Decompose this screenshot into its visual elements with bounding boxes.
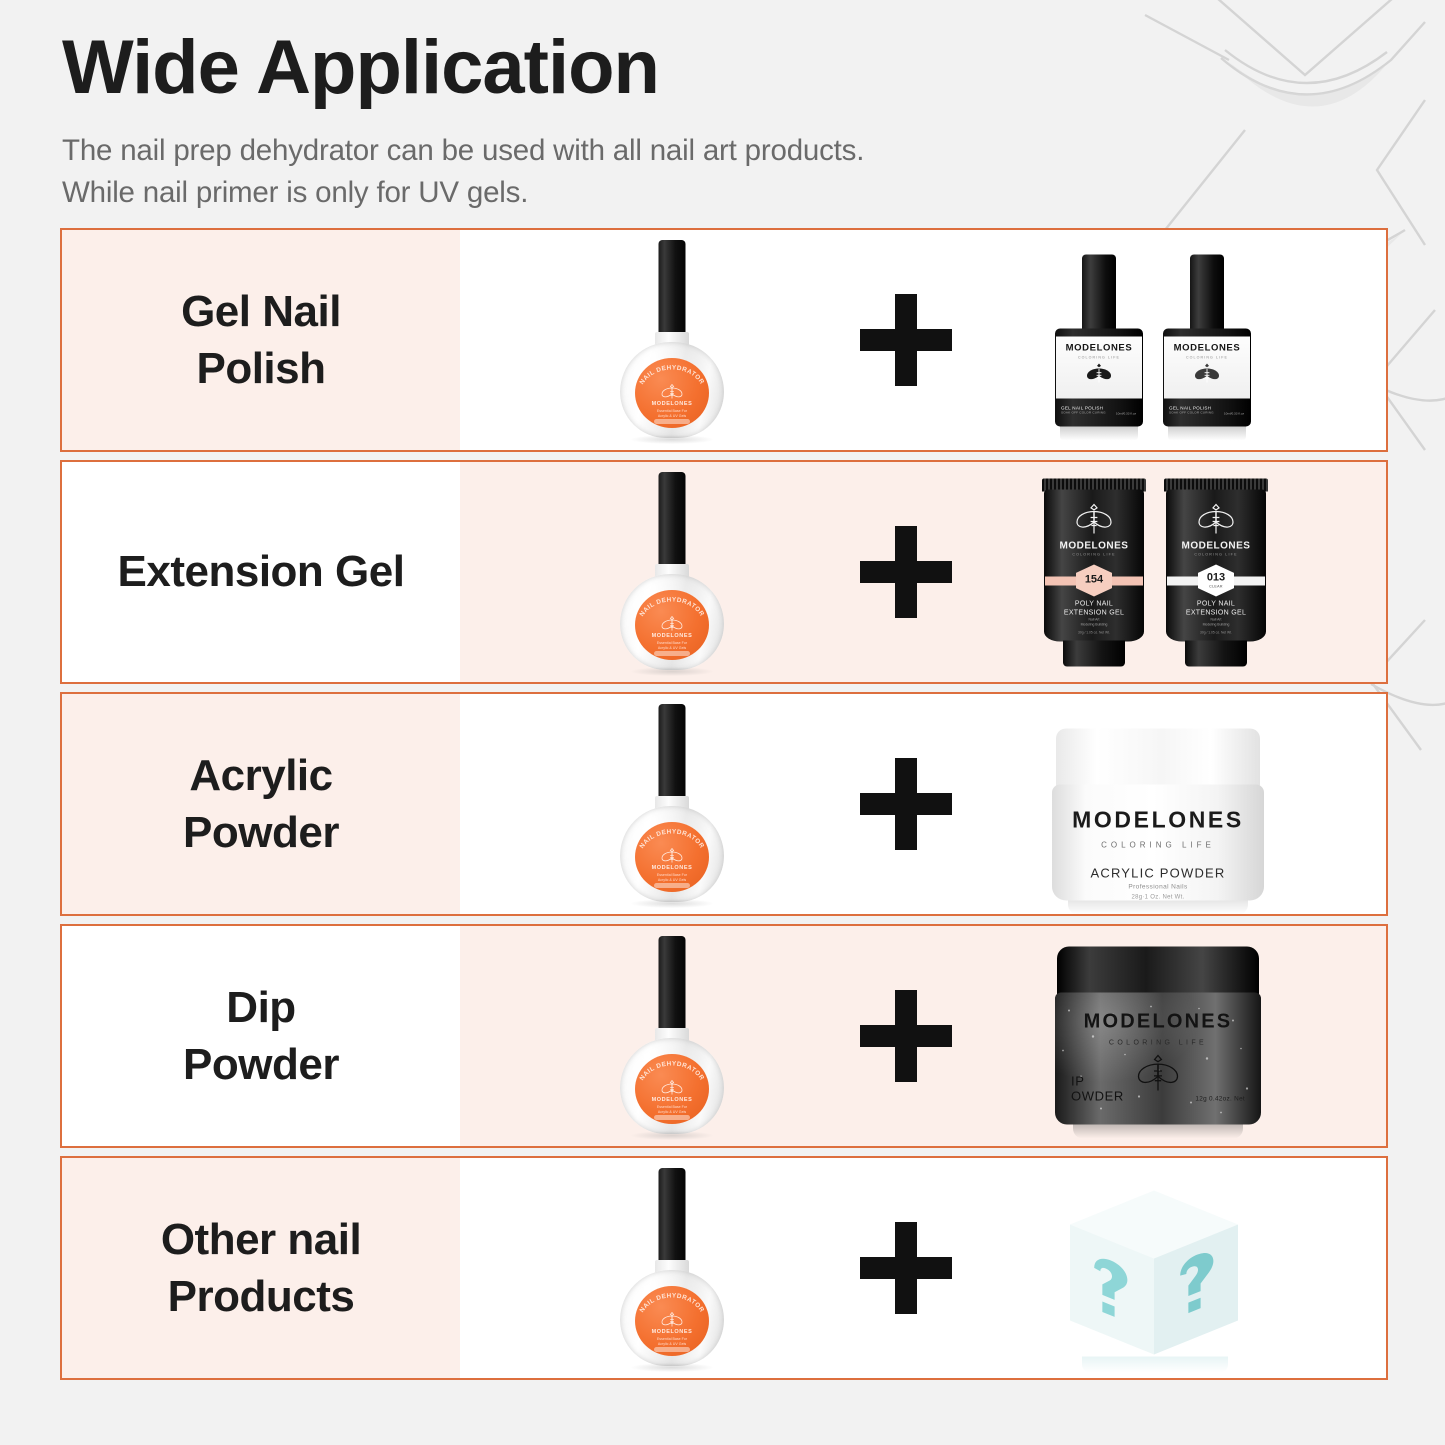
jar-brand: MODELONES — [1072, 806, 1244, 833]
page-subtitle-line-2: While nail primer is only for UV gels. — [62, 172, 864, 214]
row-label-cell: Dip Powder — [62, 926, 460, 1146]
bee-logo-icon — [660, 383, 684, 400]
jar-reflection — [1068, 900, 1248, 914]
poly-gel-tubes: MODELONES COLORING LIFE 154 POLY NAIL EX… — [1008, 470, 1308, 675]
row-product-cell: NAIL DEHYDRATOR MOD — [460, 230, 1386, 450]
row-label-line-2: Powder — [183, 804, 339, 861]
bee-logo-icon — [1193, 362, 1221, 384]
tube-fine-line-2: Modeling Building — [1158, 623, 1274, 628]
polish-brand: MODELONES — [1066, 343, 1133, 354]
polish-footer: GEL NAIL POLISH SOAK OFF COLOR CURING 10… — [1164, 399, 1250, 421]
row-label-line-1: Extension Gel — [118, 543, 405, 600]
label-pill — [654, 1115, 690, 1120]
cube-reflection — [1082, 1356, 1228, 1372]
tube-net: 30g / 1.05 oz. Net Wt. — [1036, 631, 1152, 635]
label-fine-print: Essential Base For Acrylic & UV Gels — [635, 1105, 709, 1115]
table-row: Gel Nail Polish NAIL DEHYDRATOR — [60, 228, 1388, 452]
polish-label: MODELONES COLORING LIFE — [1056, 337, 1142, 399]
bottle-cap — [659, 1168, 686, 1264]
nail-dehydrator-bottle: NAIL DEHYDRATOR MOD — [612, 704, 732, 904]
polish-reflection — [1060, 427, 1138, 441]
tube-brand: MODELONES — [1158, 541, 1274, 552]
row-label-cell: Gel Nail Polish — [62, 230, 460, 450]
bee-logo-icon — [660, 1311, 684, 1328]
table-row: Acrylic Powder NAIL DEHYDRATOR — [60, 692, 1388, 916]
plus-icon — [860, 294, 952, 386]
plus-icon — [860, 1222, 952, 1314]
label-brand: MODELONES — [635, 401, 709, 407]
bee-logo-icon — [660, 1079, 684, 1096]
polish-reflection — [1168, 427, 1246, 441]
plus-icon — [860, 990, 952, 1082]
polish-tagline: COLORING LIFE — [1078, 355, 1120, 359]
bottle-cap — [659, 704, 686, 800]
label-fine-print: Essential Base For Acrylic & UV Gels — [635, 873, 709, 883]
tube-cap — [1063, 641, 1125, 667]
label-fine-print: Essential Base For Acrylic & UV Gels — [635, 409, 709, 419]
row-product-cell: NAIL DEHYDRATOR MOD — [460, 1158, 1386, 1378]
jar-name-line-2: OWDER — [1071, 1090, 1124, 1105]
jar-product-name: ACRYLIC POWDER — [1090, 865, 1225, 880]
row-label-cell: Extension Gel — [62, 462, 460, 682]
label-fine-print: Essential Base For Acrylic & UV Gels — [635, 1337, 709, 1347]
bottle-label: NAIL DEHYDRATOR MOD — [635, 1286, 709, 1356]
page-header: Wide Application The nail prep dehydrato… — [62, 28, 864, 214]
jar-body: MODELONES COLORING LIFE — [1055, 993, 1261, 1125]
plus-sign — [860, 990, 952, 1082]
jar-brand: MODELONES — [1084, 1011, 1233, 1034]
row-label-line-2: Products — [161, 1268, 361, 1325]
tube-product-name: POLY NAIL EXTENSION GEL — [1036, 600, 1152, 618]
bottle-shadow — [631, 1363, 713, 1372]
page-subtitle-line-1: The nail prep dehydrator can be used wit… — [62, 130, 864, 172]
label-brand: MODELONES — [635, 865, 709, 871]
plus-icon — [860, 526, 952, 618]
plus-sign — [860, 758, 952, 850]
question-mark-cube-icon — [1062, 1186, 1246, 1358]
tube-cap — [1185, 641, 1247, 667]
row-product-cell: NAIL DEHYDRATOR MOD — [460, 462, 1386, 682]
row-label-line-1: Acrylic — [183, 747, 339, 804]
row-label: Dip Powder — [183, 979, 339, 1093]
tube-brand: MODELONES — [1036, 541, 1152, 552]
jar-tagline: COLORING LIFE — [1101, 840, 1215, 849]
jar-product-name: IP OWDER — [1071, 1075, 1124, 1105]
bottle-label: NAIL DEHYDRATOR MOD — [635, 590, 709, 660]
row-label-line-1: Gel Nail — [181, 283, 341, 340]
bottle-cap — [659, 240, 686, 336]
nail-dehydrator-bottle: NAIL DEHYDRATOR MOD — [612, 936, 732, 1136]
row-label-line-1: Other nail — [161, 1211, 361, 1268]
row-label-line-2: Powder — [183, 1036, 339, 1093]
poly-gel-tube: MODELONES COLORING LIFE 154 POLY NAIL EX… — [1036, 479, 1152, 667]
page-title: Wide Application — [62, 28, 864, 108]
tube-product-name: POLY NAIL EXTENSION GEL — [1158, 600, 1274, 618]
row-label: Gel Nail Polish — [181, 283, 341, 397]
tube-tagline: COLORING LIFE — [1036, 553, 1152, 557]
tube-name-line-1: POLY NAIL — [1158, 600, 1274, 609]
table-row: Extension Gel NAIL DEHYDRATOR — [60, 460, 1388, 684]
plus-sign — [860, 526, 952, 618]
gel-polish-bottles: MODELONES COLORING LIFE — [1008, 238, 1308, 443]
polish-tagline: COLORING LIFE — [1186, 355, 1228, 359]
jar-net: 12g 0.42oz. Net — [1195, 1096, 1245, 1103]
row-label: Other nail Products — [161, 1211, 361, 1325]
row-label: Extension Gel — [118, 543, 405, 600]
jar-name-line-1: IP — [1071, 1075, 1124, 1090]
jar-fine-print: Professional Nails — [1128, 883, 1187, 890]
plus-sign — [860, 294, 952, 386]
bottle-shadow — [631, 435, 713, 444]
tube-tagline: COLORING LIFE — [1158, 553, 1274, 557]
polish-net: 10ml/0.33 fl.oz — [1224, 412, 1244, 416]
polish-brand: MODELONES — [1174, 343, 1241, 354]
poly-gel-tube: MODELONES COLORING LIFE 013 CLEAR POLY N… — [1158, 479, 1274, 667]
bee-logo-icon — [1196, 503, 1236, 537]
bottle-shadow — [631, 667, 713, 676]
tube-name-line-2: EXTENSION GEL — [1036, 609, 1152, 618]
polish-footer: GEL NAIL POLISH SOAK OFF COLOR CURING 10… — [1056, 399, 1142, 421]
plus-sign — [860, 1222, 952, 1314]
bottle-shadow — [631, 1131, 713, 1140]
row-product-cell: NAIL DEHYDRATOR MOD — [460, 694, 1386, 914]
tube-shade-label: CLEAR — [1209, 585, 1223, 589]
tube-fine-print: Nail Art Modeling Building — [1158, 618, 1274, 628]
label-pill — [654, 883, 690, 888]
bottle-label: NAIL DEHYDRATOR MOD — [635, 1054, 709, 1124]
label-brand: MODELONES — [635, 1329, 709, 1335]
bottle-cap — [659, 472, 686, 568]
label-brand: MODELONES — [635, 633, 709, 639]
tube-name-line-2: EXTENSION GEL — [1158, 609, 1274, 618]
jar-body: MODELONES COLORING LIFE ACRYLIC POWDER P… — [1052, 784, 1264, 900]
plus-icon — [860, 758, 952, 850]
polish-net: 10ml/0.33 fl.oz — [1116, 412, 1136, 416]
label-pill — [654, 651, 690, 656]
bee-logo-icon — [1085, 362, 1113, 384]
row-label-cell: Other nail Products — [62, 1158, 460, 1378]
dip-powder-jar: MODELONES COLORING LIFE — [1008, 934, 1308, 1139]
bee-logo-icon — [660, 615, 684, 632]
application-table: Gel Nail Polish NAIL DEHYDRATOR — [60, 228, 1388, 1380]
bottle-label: NAIL DEHYDRATOR MOD — [635, 358, 709, 428]
tube-shade-number: 013 — [1207, 573, 1225, 584]
table-row: Other nail Products NAIL DEHYDRATOR — [60, 1156, 1388, 1380]
nail-dehydrator-bottle: NAIL DEHYDRATOR MOD — [612, 1168, 732, 1368]
label-pill — [654, 1347, 690, 1352]
label-fine-print: Essential Base For Acrylic & UV Gels — [635, 641, 709, 651]
row-product-cell: NAIL DEHYDRATOR MOD — [460, 926, 1386, 1146]
tube-name-line-1: POLY NAIL — [1036, 600, 1152, 609]
bee-logo-icon — [1074, 503, 1114, 537]
tube-fine-line-2: Modeling Building — [1036, 623, 1152, 628]
mystery-product-cube — [1008, 1173, 1308, 1378]
bee-logo-icon — [1135, 1054, 1181, 1094]
polish-cap — [1082, 255, 1116, 337]
polish-cap — [1190, 255, 1224, 337]
nail-dehydrator-bottle: NAIL DEHYDRATOR MOD — [612, 472, 732, 672]
tube-fine-print: Nail Art Modeling Building — [1036, 618, 1152, 628]
bottle-label: NAIL DEHYDRATOR MOD — [635, 822, 709, 892]
polish-label: MODELONES COLORING LIFE — [1164, 337, 1250, 399]
label-brand: MODELONES — [635, 1097, 709, 1103]
tube-net: 30g / 1.05 oz. Net Wt. — [1158, 631, 1274, 635]
row-label: Acrylic Powder — [183, 747, 339, 861]
page-subtitle: The nail prep dehydrator can be used wit… — [62, 130, 864, 214]
acrylic-powder-jar: MODELONES COLORING LIFE ACRYLIC POWDER P… — [1008, 709, 1308, 914]
bottle-cap — [659, 936, 686, 1032]
jar-reflection — [1073, 1125, 1243, 1139]
jar-tagline: COLORING LIFE — [1109, 1040, 1207, 1047]
tube-shade-number: 154 — [1085, 575, 1103, 586]
jar-lid — [1056, 728, 1260, 790]
label-pill — [654, 419, 690, 424]
row-label-line-2: Polish — [181, 340, 341, 397]
jar-lid — [1057, 947, 1259, 999]
bottle-shadow — [631, 899, 713, 908]
table-row: Dip Powder NAIL DEHYDRATOR — [60, 924, 1388, 1148]
row-label-line-1: Dip — [183, 979, 339, 1036]
row-label-cell: Acrylic Powder — [62, 694, 460, 914]
gel-polish-bottle: MODELONES COLORING LIFE — [1052, 255, 1146, 427]
gel-polish-bottle: MODELONES COLORING LIFE — [1160, 255, 1254, 427]
nail-dehydrator-bottle: NAIL DEHYDRATOR MOD — [612, 240, 732, 440]
bee-logo-icon — [660, 847, 684, 864]
